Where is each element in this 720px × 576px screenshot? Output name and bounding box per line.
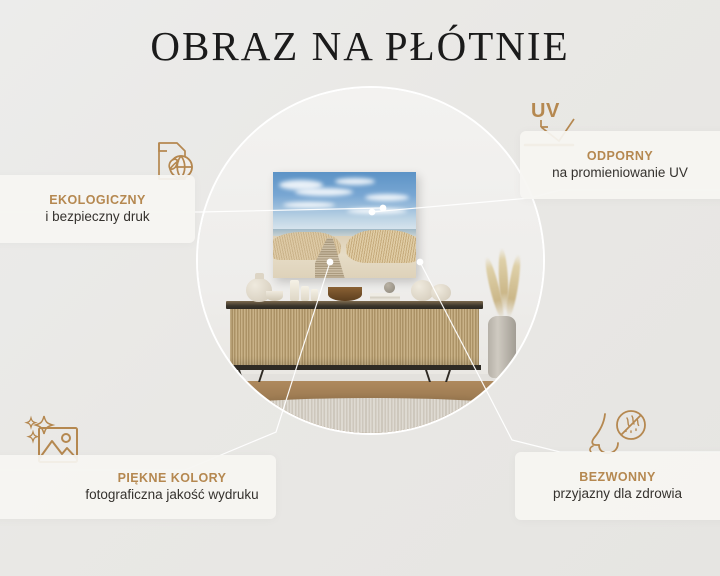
small-bowl [266,291,283,301]
feature-card-odor[interactable]: BEZWONNY przyjazny dla zdrowia [515,452,720,520]
feature-card-uv[interactable]: ODPORNY na promieniowanie UV [520,131,720,199]
pillar-candle [290,280,299,301]
sideboard-leg [445,370,471,382]
feature-kicker-eco: EKOLOGICZNY [49,192,146,208]
feature-kicker-colors: PIĘKNE KOLORY [118,470,227,486]
sideboard-leg [258,370,284,382]
product-scene-photo [198,88,543,433]
tall-floor-vase [488,316,516,378]
cloud [365,194,409,201]
ceramic-round-vase [431,284,451,301]
cloud [295,188,353,196]
vase-neck [255,273,264,279]
canvas-artwork [273,172,416,278]
decor-sphere [384,282,395,293]
pillar-candle [301,286,309,301]
feature-kicker-odor: BEZWONNY [579,469,656,485]
feature-card-eco[interactable]: EKOLOGICZNY i bezpieczny druk [0,175,195,243]
feature-sub-colors: fotograficzna jakość wydruku [85,486,258,504]
sideboard-slatted-front [230,309,479,365]
cloud [347,208,407,214]
room-scene [198,88,543,433]
cloud [335,178,375,185]
feature-card-colors[interactable]: PIĘKNE KOLORY fotograficzna jakość wydru… [0,455,276,519]
feature-sub-eco: i bezpieczny druk [45,208,149,226]
pillar-candle [311,289,318,301]
area-rug [198,398,543,433]
sideboard-top [226,301,483,309]
feature-kicker-uv: ODPORNY [587,148,653,164]
page-title: OBRAZ NA PŁÓTNIE [0,22,720,70]
poster-canvas: OBRAZ NA PŁÓTNIE [0,0,720,576]
cloud [283,202,335,208]
sideboard-furniture [226,301,483,379]
feature-sub-uv: na promieniowanie UV [552,164,688,182]
feature-sub-odor: przyjazny dla zdrowia [553,485,682,503]
wooden-bowl [328,287,362,301]
stacked-books [370,293,400,301]
artwork-dune-right [346,230,416,263]
